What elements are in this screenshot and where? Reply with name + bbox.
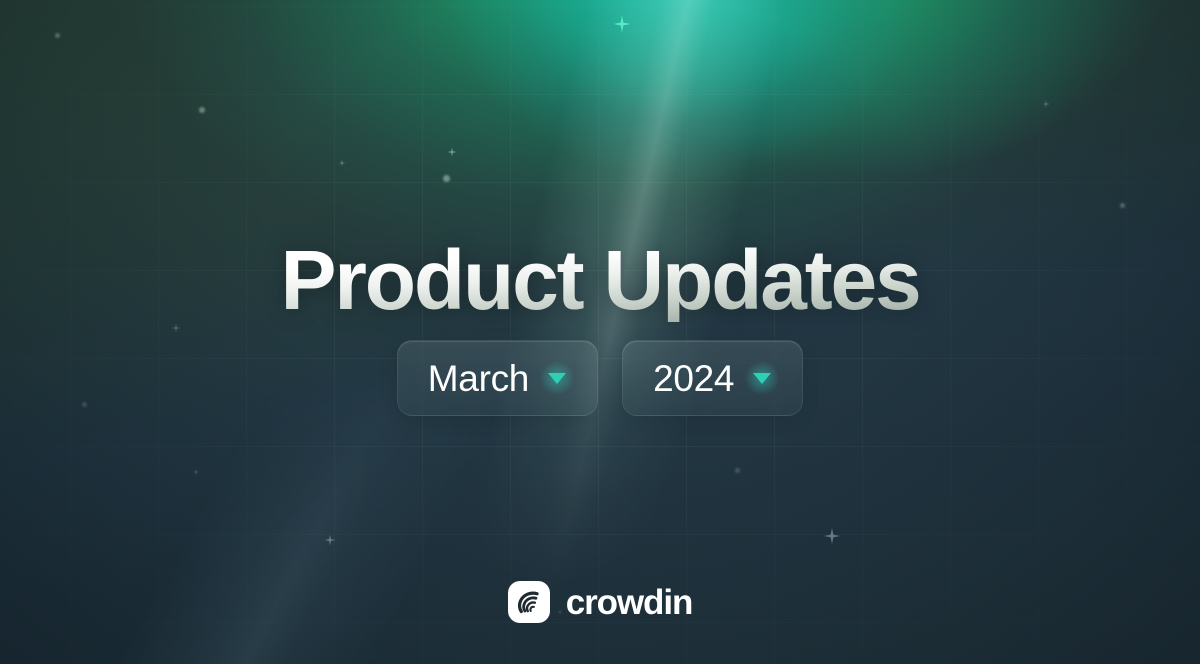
date-selectors: March 2024 <box>397 340 803 416</box>
year-dropdown[interactable]: 2024 <box>622 340 803 416</box>
product-updates-banner: Product Updates March 2024 <box>0 0 1200 664</box>
month-dropdown-label: March <box>428 360 529 397</box>
chevron-down-icon[interactable] <box>748 364 776 392</box>
year-dropdown-label: 2024 <box>653 360 734 397</box>
page-title: Product Updates <box>280 238 919 322</box>
chevron-down-icon[interactable] <box>543 364 571 392</box>
banner-content: Product Updates March 2024 <box>0 0 1200 664</box>
month-dropdown[interactable]: March <box>397 340 598 416</box>
